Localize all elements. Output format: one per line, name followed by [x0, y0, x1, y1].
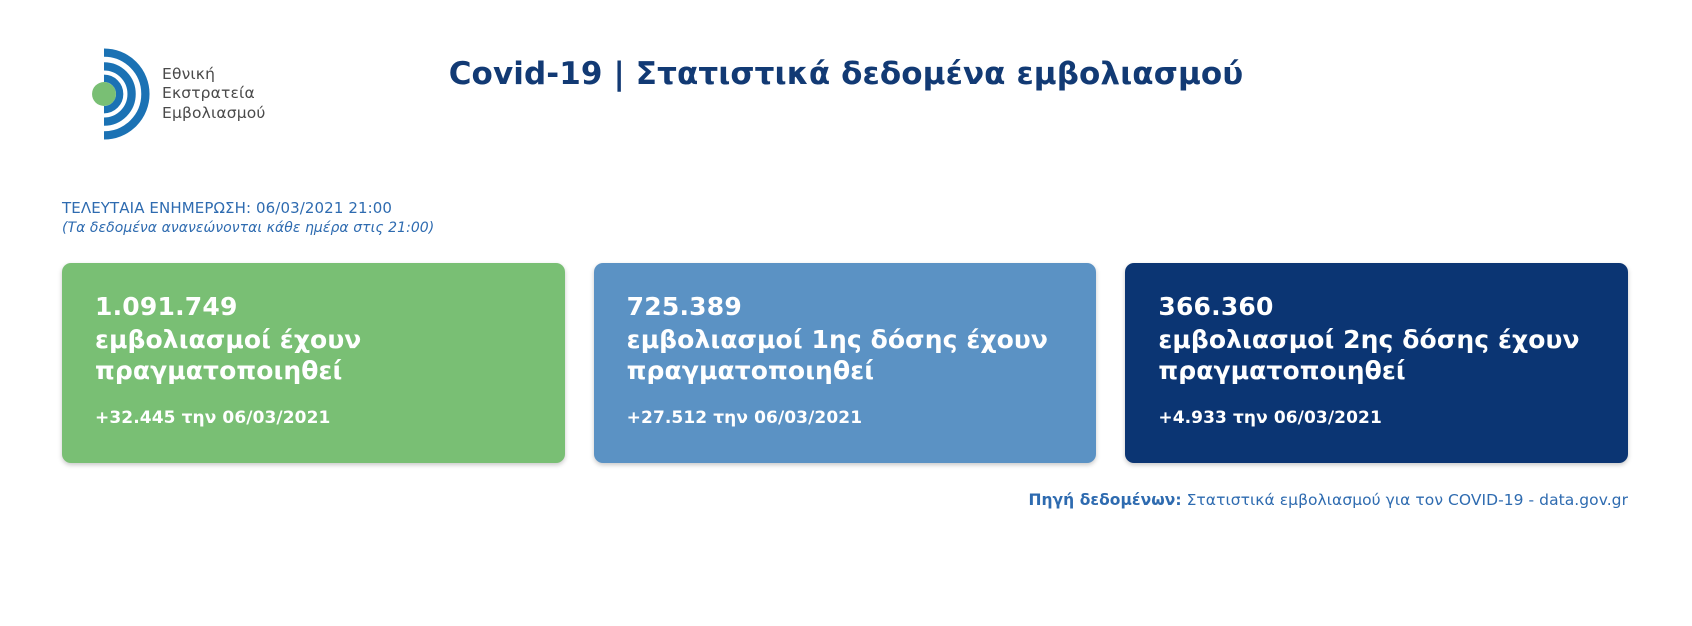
data-source-link[interactable]: Στατιστικά εμβολιασμού για τον COVID-19 … — [1187, 491, 1628, 509]
update-frequency-note: (Τα δεδομένα ανανεώνονται κάθε ημέρα στι… — [62, 218, 434, 238]
brand-line-3: Εμβολιασμού — [162, 104, 265, 124]
stat-card-first-dose-delta: +27.512 την 06/03/2021 — [627, 407, 862, 429]
vaccination-stats-page: Εθνική Εκστρατεία Εμβολιασμού Covid-19 |… — [0, 0, 1692, 626]
stat-card-total-number: 1.091.749 — [95, 291, 532, 323]
stat-card-second-dose-delta: +4.933 την 06/03/2021 — [1158, 407, 1382, 429]
stat-card-second-dose-label: εμβολιασμοί 2ης δόσης έχουν πραγματοποιη… — [1158, 324, 1595, 386]
last-update-text: ΤΕΛΕΥΤΑΙΑ ΕΝΗΜΕΡΩΣΗ: 06/03/2021 21:00 — [62, 198, 434, 218]
stat-card-total: 1.091.749 εμβολιασμοί έχουν πραγματοποιη… — [62, 263, 565, 463]
data-source-label: Πηγή δεδομένων: — [1028, 491, 1181, 509]
page-header: Εθνική Εκστρατεία Εμβολιασμού Covid-19 |… — [0, 0, 1692, 165]
last-update-block: ΤΕΛΕΥΤΑΙΑ ΕΝΗΜΕΡΩΣΗ: 06/03/2021 21:00 (Τ… — [62, 198, 434, 238]
stat-card-total-delta: +32.445 την 06/03/2021 — [95, 407, 330, 429]
stat-card-second-dose: 366.360 εμβολιασμοί 2ης δόσης έχουν πραγ… — [1125, 263, 1628, 463]
data-source-footer: Πηγή δεδομένων: Στατιστικά εμβολιασμού γ… — [1028, 490, 1628, 511]
stat-card-first-dose-label: εμβολιασμοί 1ης δόσης έχουν πραγματοποιη… — [627, 324, 1064, 386]
stat-cards-row: 1.091.749 εμβολιασμοί έχουν πραγματοποιη… — [62, 263, 1628, 463]
page-title: Covid-19 | Στατιστικά δεδομένα εμβολιασμ… — [0, 56, 1692, 92]
stat-card-total-label: εμβολιασμοί έχουν πραγματοποιηθεί — [95, 324, 532, 386]
stat-card-second-dose-number: 366.360 — [1158, 291, 1595, 323]
stat-card-first-dose-number: 725.389 — [627, 291, 1064, 323]
stat-card-first-dose: 725.389 εμβολιασμοί 1ης δόσης έχουν πραγ… — [594, 263, 1097, 463]
